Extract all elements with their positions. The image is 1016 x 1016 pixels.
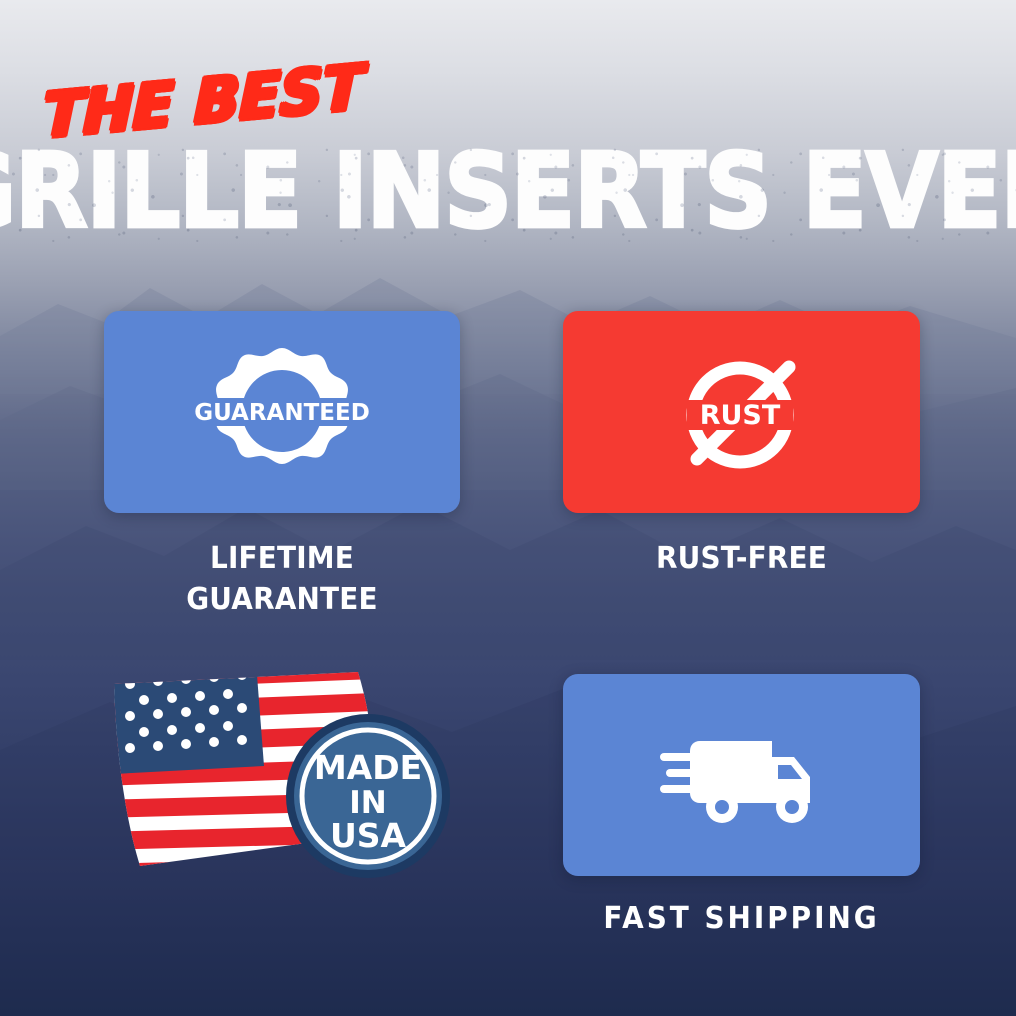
feature-label-fast-shipping: FAST SHIPPING xyxy=(575,898,907,939)
page-title: GRILLE INSERTS EVER! xyxy=(0,140,1016,242)
usa-flag-badge-icon: MADE IN USA xyxy=(96,666,468,882)
feature-card-made-in-usa[interactable]: MADE IN USA xyxy=(96,666,468,882)
feature-card-fast-shipping[interactable] xyxy=(563,674,920,876)
badge-line-3: USA xyxy=(330,816,407,855)
no-rust-icon: RUST xyxy=(667,337,817,487)
feature-card-lifetime-guarantee[interactable]: GUARANTEED xyxy=(104,311,460,513)
feature-label-rust-free: RUST-FREE xyxy=(575,538,907,579)
promo-poster: THE BEST GRILLE INSERTS EVER! GUARANTEED… xyxy=(0,0,1016,1016)
made-in-usa-badge: MADE IN USA xyxy=(286,714,450,878)
headline-block: THE BEST GRILLE INSERTS EVER! xyxy=(0,0,1016,250)
badge-line-1: MADE xyxy=(314,748,422,787)
guarantee-seal-label: GUARANTEED xyxy=(194,400,370,426)
feature-label-lifetime-guarantee: LIFETIME GUARANTEE xyxy=(116,538,447,621)
delivery-truck-icon xyxy=(660,723,824,827)
no-rust-label: RUST xyxy=(699,400,780,431)
guarantee-seal-icon: GUARANTEED xyxy=(198,342,366,482)
feature-card-rust-free[interactable]: RUST xyxy=(563,311,920,513)
